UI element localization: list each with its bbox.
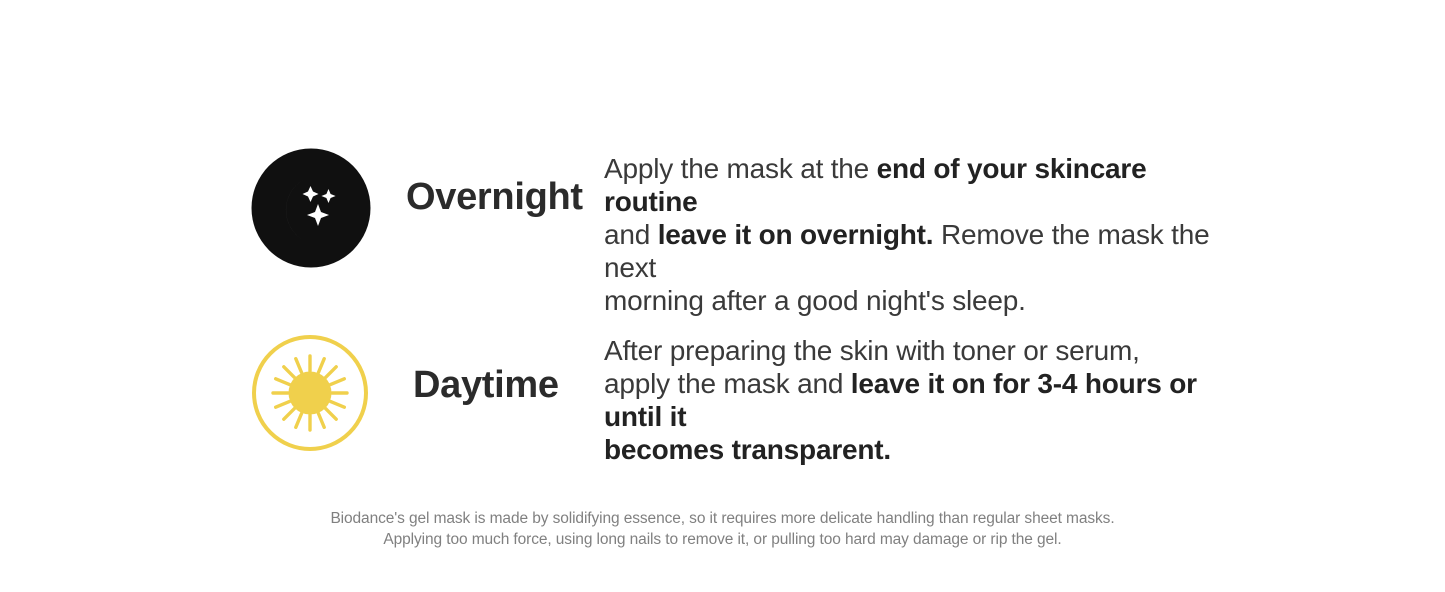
section-label-daytime: Daytime xyxy=(413,364,559,407)
text-run: morning after a good night's sleep. xyxy=(604,285,1026,316)
text-run: apply the mask and xyxy=(604,368,851,399)
footnote: Biodance's gel mask is made by solidifyi… xyxy=(0,508,1445,550)
text-run-bold: leave it on overnight. xyxy=(658,219,934,250)
instructions-page: Overnight Apply the mask at the end of y… xyxy=(0,0,1445,592)
footnote-line-2: Applying too much force, using long nail… xyxy=(0,529,1445,550)
text-run: and xyxy=(604,219,658,250)
footnote-line-1: Biodance's gel mask is made by solidifyi… xyxy=(0,508,1445,529)
instruction-text-daytime: After preparing the skin with toner or s… xyxy=(604,334,1214,466)
text-run: Apply the mask at the xyxy=(604,153,877,184)
instruction-text-overnight: Apply the mask at the end of your skinca… xyxy=(604,152,1214,317)
sun-icon xyxy=(251,332,369,454)
moon-icon xyxy=(251,148,373,270)
section-label-overnight: Overnight xyxy=(406,176,583,219)
instruction-row-daytime: Daytime xyxy=(251,332,559,454)
text-run: After preparing the skin with toner or s… xyxy=(604,335,1140,366)
instruction-row-overnight: Overnight xyxy=(251,148,583,270)
text-run-bold: becomes transparent. xyxy=(604,434,891,465)
